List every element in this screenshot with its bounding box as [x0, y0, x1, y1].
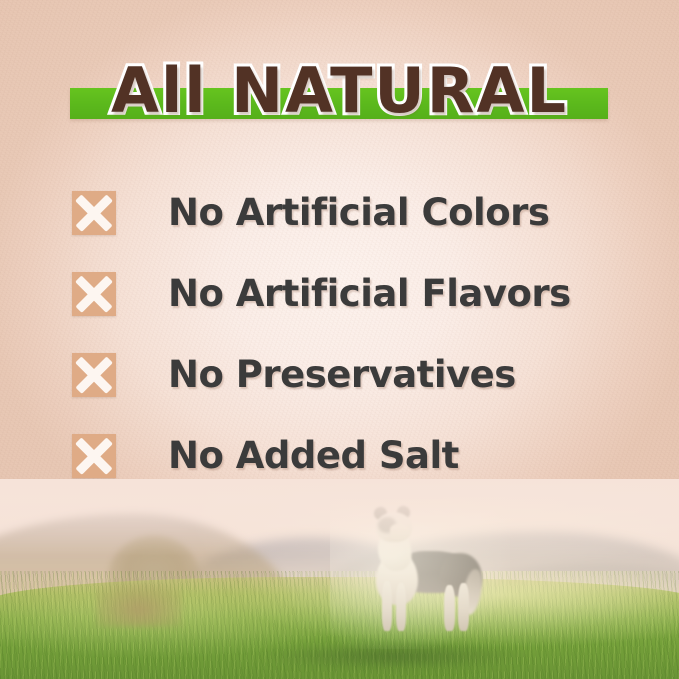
dog-muzzle [390, 524, 410, 539]
dog-back-leg-right [458, 583, 469, 631]
feature-item: No Artificial Colors [72, 172, 632, 253]
feature-item: No Artificial Flavors [72, 253, 632, 334]
dog-front-leg-left [382, 581, 392, 631]
feature-list: No Artificial Colors No Artificial Flavo… [72, 172, 632, 496]
dog-ground-shadow [259, 641, 529, 671]
feature-label: No Preservatives [168, 353, 516, 396]
feature-item: No Preservatives [72, 334, 632, 415]
dry-grass-tuft [96, 583, 182, 627]
x-mark-icon [72, 353, 116, 397]
feature-label: No Added Salt [168, 434, 459, 477]
x-mark-icon [72, 434, 116, 478]
headline-title: All NATURAL [0, 52, 679, 130]
lifestyle-photo [0, 479, 679, 679]
x-mark-icon [72, 191, 116, 235]
border-collie-dog [352, 509, 484, 635]
feature-label: No Artificial Colors [168, 191, 549, 234]
dog-front-leg-right [396, 583, 406, 631]
x-mark-icon [72, 272, 116, 316]
feature-label: No Artificial Flavors [168, 272, 571, 315]
dog-back-leg-left [444, 585, 455, 631]
product-feature-panel: All NATURAL No Artificial Colors No Arti… [0, 0, 679, 679]
headline-banner: All NATURAL [0, 52, 679, 130]
